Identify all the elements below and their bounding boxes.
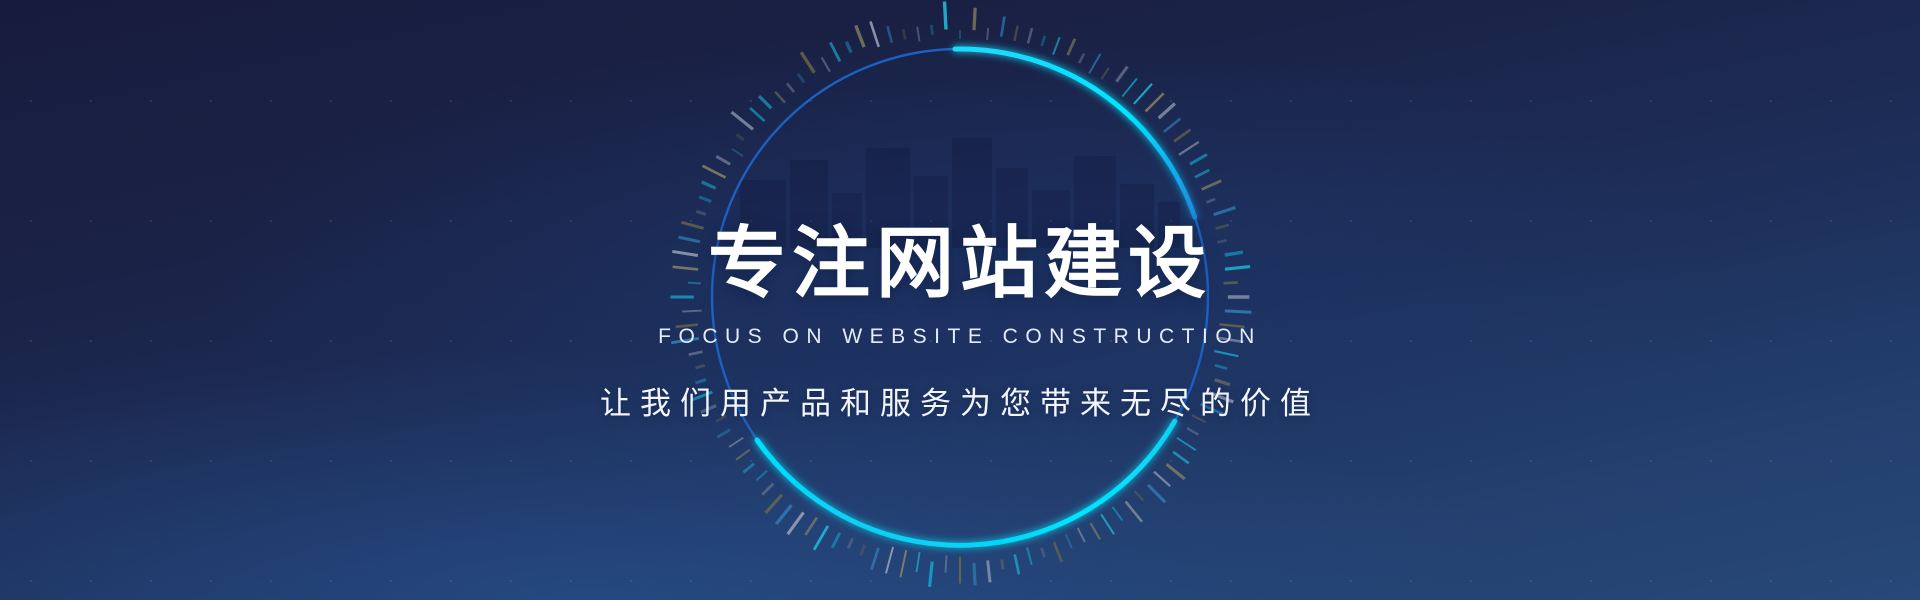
page-title: 专注网站建设 bbox=[0, 224, 1920, 302]
cyan-arc-top-right bbox=[955, 49, 1195, 217]
subtitle-english: FOCUS ON WEBSITE CONSTRUCTION bbox=[0, 325, 1920, 349]
cyan-arc-bottom-left bbox=[757, 421, 1175, 545]
hero-banner: 专注网站建设 FOCUS ON WEBSITE CONSTRUCTION 让我们… bbox=[0, 0, 1920, 600]
tagline-chinese: 让我们用产品和服务为您带来无尽的价值 bbox=[0, 378, 1920, 423]
